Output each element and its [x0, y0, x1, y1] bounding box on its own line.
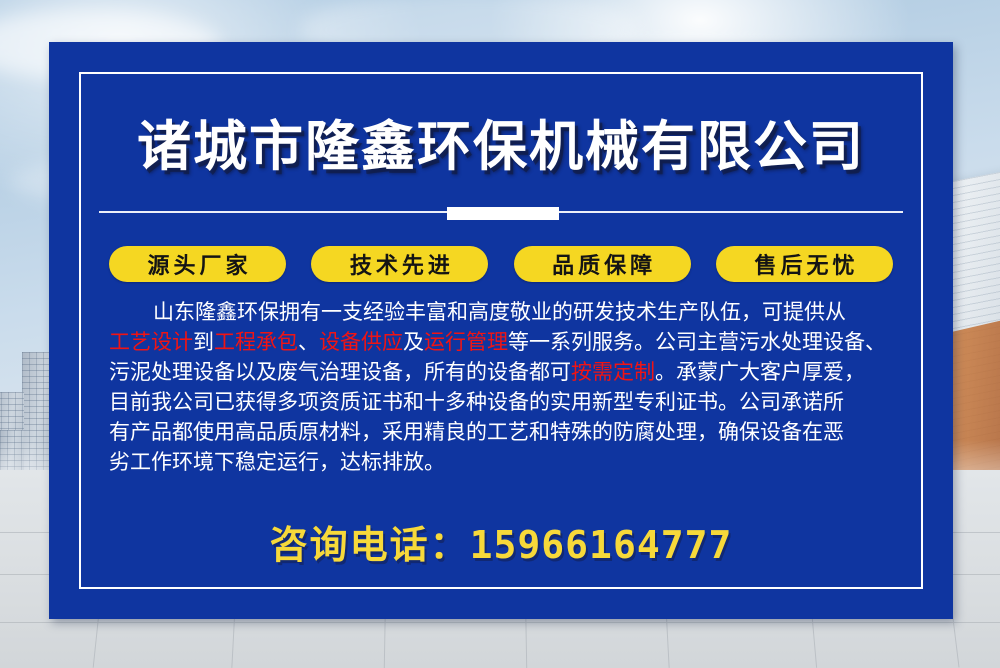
feature-badge-quality-guarantee[interactable]: 品质保障	[514, 246, 691, 282]
description-line-5: 有产品都使用高品质原材料，采用精良的工艺和特殊的防腐处理，确保设备在恶	[109, 418, 899, 448]
highlight-process-design: 工艺设计	[109, 331, 193, 354]
text-and: 及	[403, 331, 424, 354]
highlight-custom-made: 按需定制	[571, 361, 655, 384]
contact-phone-number: 15966164777	[470, 523, 733, 567]
description-line-3: 污泥处理设备以及废气治理设备，所有的设备都可按需定制。承蒙广大客户厚爱，	[109, 358, 899, 388]
description-line-6: 劣工作环境下稳定运行，达标排放。	[109, 448, 899, 478]
highlight-equipment-supply: 设备供应	[319, 331, 403, 354]
text-to: 到	[193, 331, 214, 354]
poster-canvas: 诸城市隆鑫环保机械有限公司 源头厂家 技术先进 品质保障 售后无忧 山东隆鑫环保…	[0, 0, 1000, 668]
description-line-4: 目前我公司已获得多项资质证书和十多种设备的实用新型专利证书。公司承诺所	[109, 388, 899, 418]
divider-center-block	[447, 207, 559, 220]
description-line-2: 工艺设计到工程承包、设备供应及运行管理等一系列服务。公司主营污水处理设备、	[109, 328, 899, 358]
feature-badge-after-sales[interactable]: 售后无忧	[716, 246, 893, 282]
poster-panel: 诸城市隆鑫环保机械有限公司 源头厂家 技术先进 品质保障 售后无忧 山东隆鑫环保…	[49, 42, 953, 619]
description-line-2-tail: 等一系列服务。公司主营污水处理设备、	[508, 331, 886, 354]
page-title: 诸城市隆鑫环保机械有限公司	[49, 120, 953, 174]
company-description: 山东隆鑫环保拥有一支经验丰富和高度敬业的研发技术生产队伍，可提供从 工艺设计到工…	[109, 298, 899, 478]
feature-badge-list: 源头厂家 技术先进 品质保障 售后无忧	[109, 246, 893, 282]
panel-content: 诸城市隆鑫环保机械有限公司 源头厂家 技术先进 品质保障 售后无忧 山东隆鑫环保…	[49, 42, 953, 619]
feature-badge-advanced-tech[interactable]: 技术先进	[311, 246, 488, 282]
highlight-project-contracting: 工程承包	[214, 331, 298, 354]
description-line-3-tail: 。承蒙广大客户厚爱，	[655, 361, 865, 384]
feature-badge-source-factory[interactable]: 源头厂家	[109, 246, 286, 282]
text-comma-1: 、	[298, 331, 319, 354]
contact-phone-block[interactable]: 咨询电话：15966164777	[49, 514, 953, 569]
description-line-1: 山东隆鑫环保拥有一支经验丰富和高度敬业的研发技术生产队伍，可提供从	[109, 298, 899, 328]
contact-phone-label: 咨询电话：	[270, 525, 470, 567]
highlight-operation-management: 运行管理	[424, 331, 508, 354]
description-line-3-head: 污泥处理设备以及废气治理设备，所有的设备都可	[109, 361, 571, 384]
title-divider	[99, 207, 903, 225]
